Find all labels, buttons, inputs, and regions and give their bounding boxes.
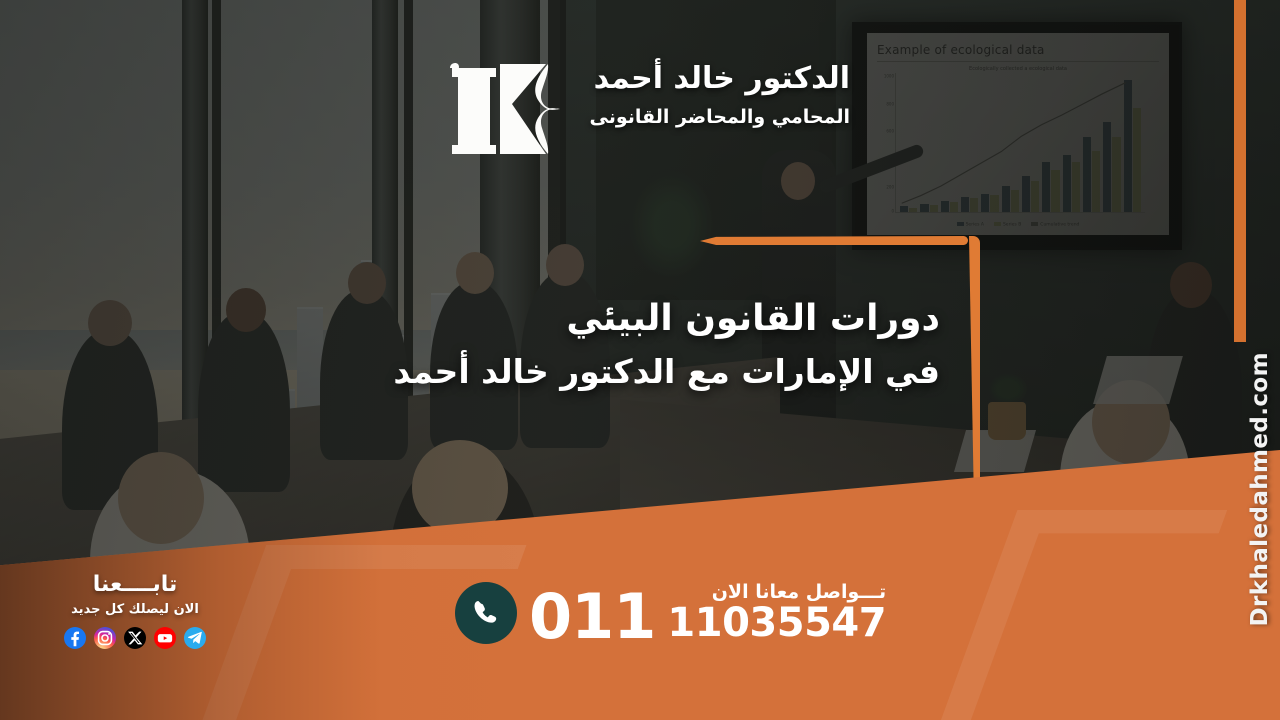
bracket-top-rule <box>700 236 968 245</box>
brand-subtitle: المحامي والمحاضر القانونى <box>560 106 850 128</box>
right-accent-bar <box>1234 0 1246 342</box>
promo-banner-canvas: Example of ecological data Ecologically … <box>0 0 1280 720</box>
telegram-icon[interactable] <box>184 627 206 649</box>
brand-name: الدكتور خالد أحمد <box>560 62 850 97</box>
social-links <box>20 627 250 649</box>
phone-main-number: 11035547 <box>667 602 886 644</box>
instagram-icon[interactable] <box>94 627 116 649</box>
phone-handset-icon[interactable] <box>455 582 517 644</box>
headline-line-2: في الإمارات مع الدكتور خالد أحمد <box>300 347 940 397</box>
bracket-right-rule <box>969 236 980 484</box>
website-label: Drkhaledahmed.com <box>1247 352 1273 626</box>
website-url[interactable]: Drkhaledahmed.com <box>1242 352 1278 682</box>
follow-title: تابــــعنا <box>20 572 250 597</box>
youtube-icon[interactable] <box>154 627 176 649</box>
page-title: دورات القانون البيئي في الإمارات مع الدك… <box>300 292 940 397</box>
phone-prefix: 011 <box>529 590 655 643</box>
contact-cta-text: تـــواصل معانا الان <box>667 583 886 602</box>
contact-block: 011 تـــواصل معانا الان 11035547 <box>455 582 886 644</box>
facebook-icon[interactable] <box>64 627 86 649</box>
x-twitter-icon[interactable] <box>124 627 146 649</box>
headline-line-1: دورات القانون البيئي <box>300 292 940 347</box>
follow-subtitle: الان ليصلك كل جديد <box>20 602 250 617</box>
phone-number-block[interactable]: 011 تـــواصل معانا الان 11035547 <box>529 583 886 644</box>
follow-us-block: تابــــعنا الان ليصلك كل جديد <box>20 572 250 649</box>
brand-block: الدكتور خالد أحمد المحامي والمحاضر القان… <box>560 62 850 128</box>
column-k-logo-icon <box>444 58 564 164</box>
